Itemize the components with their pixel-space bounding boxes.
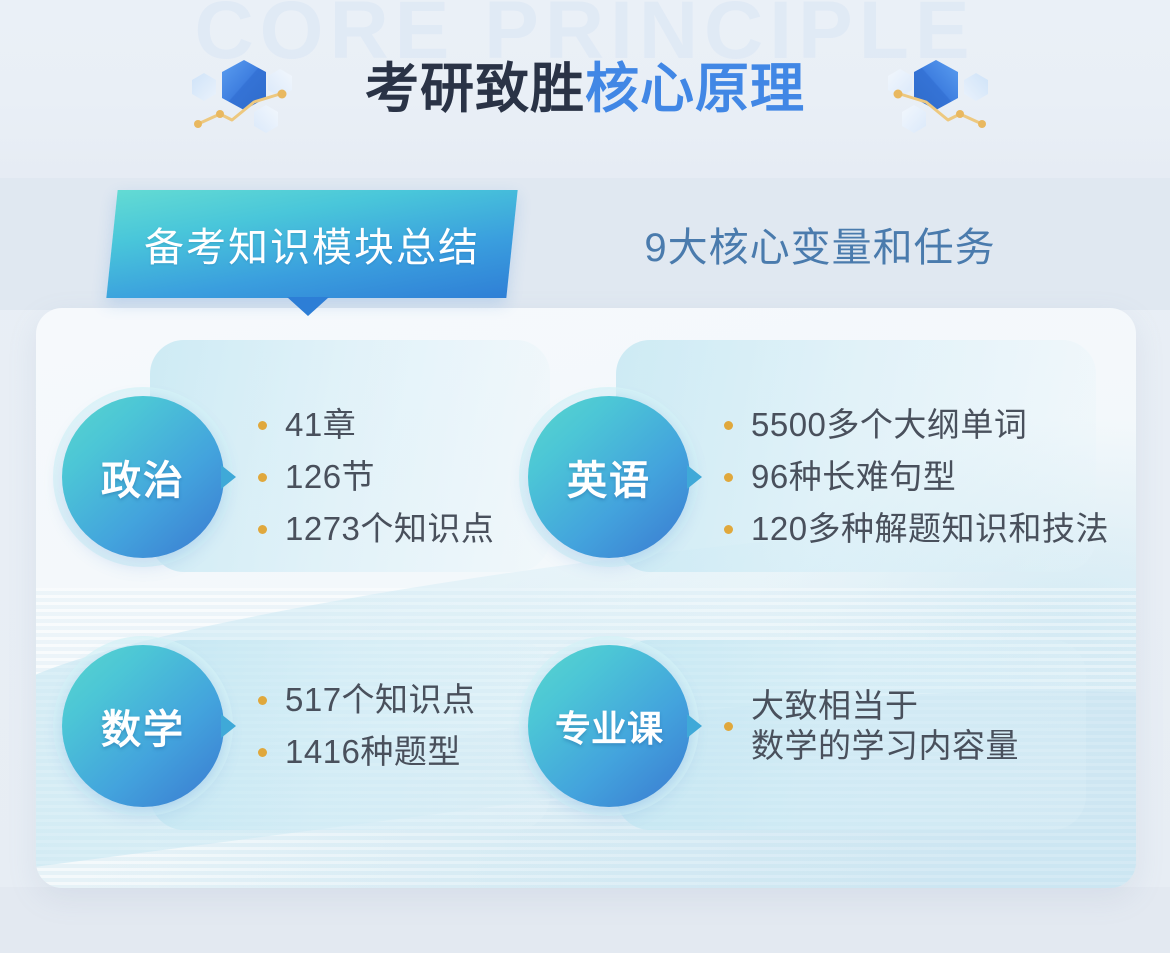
page-title-accent: 核心原理 [585, 59, 805, 119]
footer-strip [0, 887, 1170, 953]
bullet-text: 5500多个大纲单词 [751, 405, 1027, 445]
infographic-canvas: CORE PRINCIPLE [0, 0, 1170, 953]
bullet-text-multiline: 大致相当于 数学的学习内容量 [751, 686, 1019, 766]
badge-circle: 数学 [62, 645, 224, 807]
bullet-dot-icon [258, 696, 267, 705]
bullet-dot-icon [258, 748, 267, 757]
list-item: 41章 [258, 405, 494, 445]
list-item: 126节 [258, 457, 494, 497]
badge-pointer-icon [221, 714, 236, 738]
subject-bullet-list-math: 517个知识点 1416种题型 [258, 680, 476, 772]
subject-item-math[interactable]: 数学 517个知识点 1416种题型 [62, 645, 476, 807]
subject-badge-politics: 政治 [62, 396, 224, 558]
bullet-text: 96种长难句型 [751, 457, 956, 497]
bullet-text: 126节 [285, 457, 375, 497]
list-item: 96种长难句型 [724, 457, 1109, 497]
bullet-text-line-2: 数学的学习内容量 [751, 726, 1019, 766]
subject-item-major[interactable]: 专业课 大致相当于 数学的学习内容量 [528, 645, 1019, 807]
subject-name-major: 专业课 [555, 700, 663, 752]
badge-circle: 专业课 [528, 645, 690, 807]
badge-circle: 政治 [62, 396, 224, 558]
subject-name-politics: 政治 [101, 448, 185, 506]
subject-bullet-list-politics: 41章 126节 1273个知识点 [258, 405, 494, 549]
tab-active-pointer-icon [287, 297, 329, 316]
page-title-primary: 考研致胜 [365, 59, 585, 119]
bullet-dot-icon [724, 421, 733, 430]
bullet-text-line-1: 大致相当于 [751, 686, 1019, 726]
badge-pointer-icon [221, 465, 236, 489]
list-item: 1273个知识点 [258, 509, 494, 549]
bullet-dot-icon [258, 421, 267, 430]
header-banner: CORE PRINCIPLE [0, 0, 1170, 178]
subject-item-politics[interactable]: 政治 41章 126节 1273个知识点 [62, 396, 494, 558]
bullet-dot-icon [724, 525, 733, 534]
bullet-text: 120多种解题知识和技法 [751, 509, 1109, 549]
subject-bullet-list-major: 大致相当于 数学的学习内容量 [724, 686, 1019, 766]
subject-badge-english: 英语 [528, 396, 690, 558]
subject-badge-major: 专业课 [528, 645, 690, 807]
tab-core-variables[interactable]: 9大核心变量和任务 [590, 190, 1050, 298]
bullet-dot-icon [258, 525, 267, 534]
bullet-text: 1273个知识点 [285, 509, 494, 549]
subject-name-english: 英语 [567, 448, 651, 506]
bullet-text: 517个知识点 [285, 680, 476, 720]
page-title: 考研致胜核心原理 [0, 44, 1170, 123]
subject-item-english[interactable]: 英语 5500多个大纲单词 96种长难句型 120多种解题知识和技法 [528, 396, 1109, 558]
badge-pointer-icon [687, 714, 702, 738]
tab-knowledge-modules-label[interactable]: 备考知识模块总结 [112, 190, 512, 298]
bullet-dot-icon [258, 473, 267, 482]
subject-bullet-list-english: 5500多个大纲单词 96种长难句型 120多种解题知识和技法 [724, 405, 1109, 549]
badge-pointer-icon [687, 465, 702, 489]
list-item: 5500多个大纲单词 [724, 405, 1109, 445]
bullet-text: 1416种题型 [285, 732, 461, 772]
list-item: 1416种题型 [258, 732, 476, 772]
bullet-text: 41章 [285, 405, 356, 445]
list-item: 大致相当于 数学的学习内容量 [724, 686, 1019, 766]
list-item: 517个知识点 [258, 680, 476, 720]
subject-name-math: 数学 [101, 697, 185, 755]
subject-badge-math: 数学 [62, 645, 224, 807]
bullet-dot-icon [724, 473, 733, 482]
list-item: 120多种解题知识和技法 [724, 509, 1109, 549]
bullet-dot-icon [724, 722, 733, 731]
badge-circle: 英语 [528, 396, 690, 558]
